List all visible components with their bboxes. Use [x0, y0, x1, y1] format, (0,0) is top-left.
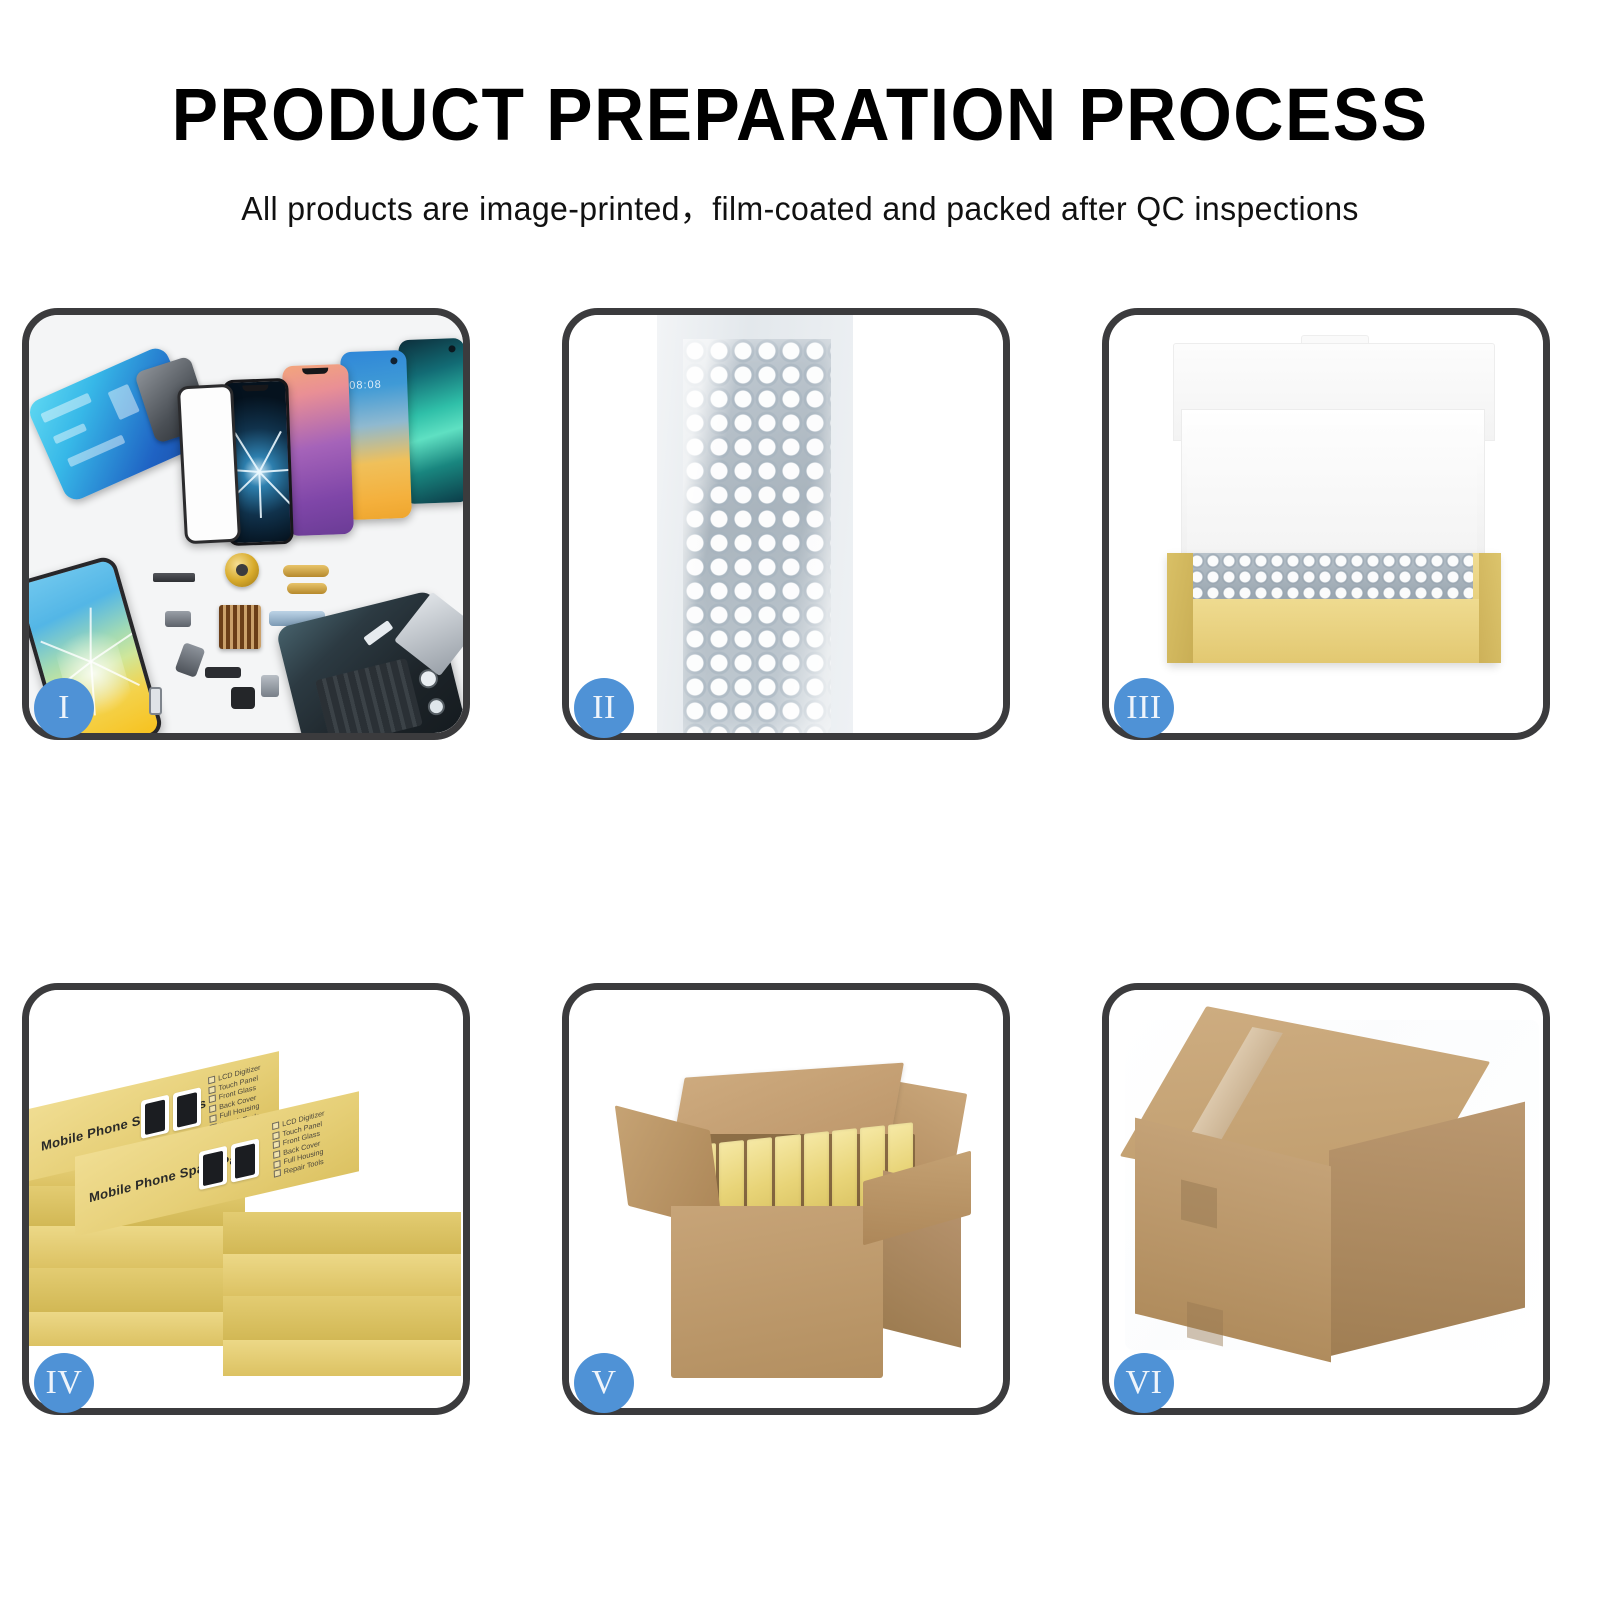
step-panel-4: Mobile Phone Spare Parts LCD Digitizer T… — [22, 983, 470, 1415]
step-panel-6 — [1102, 983, 1550, 1415]
retail-box-checklist-2: LCD Digitizer Touch Panel Front Glass Ba… — [272, 1108, 326, 1179]
open-mailer-box-image — [1165, 343, 1501, 703]
page-title: PRODUCT PREPARATION PROCESS — [48, 78, 1552, 152]
open-shipping-carton-image — [625, 1048, 965, 1388]
steps-grid: 08:08 — [22, 308, 1552, 1453]
box-thumbnail-image — [199, 1146, 227, 1190]
speaker-module-image — [231, 687, 255, 709]
connector-image — [165, 611, 191, 627]
speaker-coil-image — [225, 553, 259, 587]
step-panel-1: 08:08 — [22, 308, 470, 740]
sim-tray-image — [149, 687, 162, 715]
vibrator-motor-image — [175, 642, 206, 678]
step-badge-5: V — [574, 1353, 634, 1413]
step-panel-3 — [1102, 308, 1550, 740]
box-thumbnail-image — [231, 1138, 259, 1182]
bubble-wrap-pouch-image — [657, 315, 853, 733]
step-image-3 — [1109, 315, 1543, 733]
step-panel-2 — [562, 308, 1010, 740]
steps-row-bottom: Mobile Phone Spare Parts LCD Digitizer T… — [22, 983, 1552, 1453]
page-subtitle: All products are image-printed，film-coat… — [24, 182, 1576, 230]
step-badge-2: II — [574, 678, 634, 738]
step-badge-1: I — [34, 678, 94, 738]
header: PRODUCT PREPARATION PROCESS All products… — [0, 0, 1600, 230]
retail-box-stack-image: Mobile Phone Spare Parts LCD Digitizer T… — [29, 1020, 463, 1408]
earpiece-mesh-image — [153, 573, 195, 582]
sealed-shipping-carton-image — [1131, 1034, 1533, 1374]
step-image-5 — [569, 990, 1003, 1408]
camera-module-image — [261, 675, 279, 697]
steps-row-top: 08:08 — [22, 308, 1552, 778]
step-badge-6: VI — [1114, 1353, 1174, 1413]
box-thumbnail-image — [141, 1095, 169, 1139]
flex-cable-b-image — [287, 583, 327, 594]
step-image-2 — [569, 315, 1003, 733]
step-badge-4: IV — [34, 1353, 94, 1413]
step-image-4: Mobile Phone Spare Parts LCD Digitizer T… — [29, 990, 463, 1408]
step-panel-5 — [562, 983, 1010, 1415]
step-badge-3: III — [1114, 678, 1174, 738]
step-image-1: 08:08 — [29, 315, 463, 733]
ic-chip-image — [219, 605, 261, 649]
step-image-6 — [1109, 990, 1543, 1408]
phone-screens-fan-image: 08:08 — [179, 343, 463, 553]
antenna-strip-image — [205, 667, 241, 678]
flex-cable-a-image — [283, 565, 329, 577]
box-thumbnail-image — [173, 1087, 201, 1131]
product-preparation-infographic: PRODUCT PREPARATION PROCESS All products… — [0, 0, 1600, 1600]
bubble-wrapped-item-image — [1189, 553, 1473, 599]
